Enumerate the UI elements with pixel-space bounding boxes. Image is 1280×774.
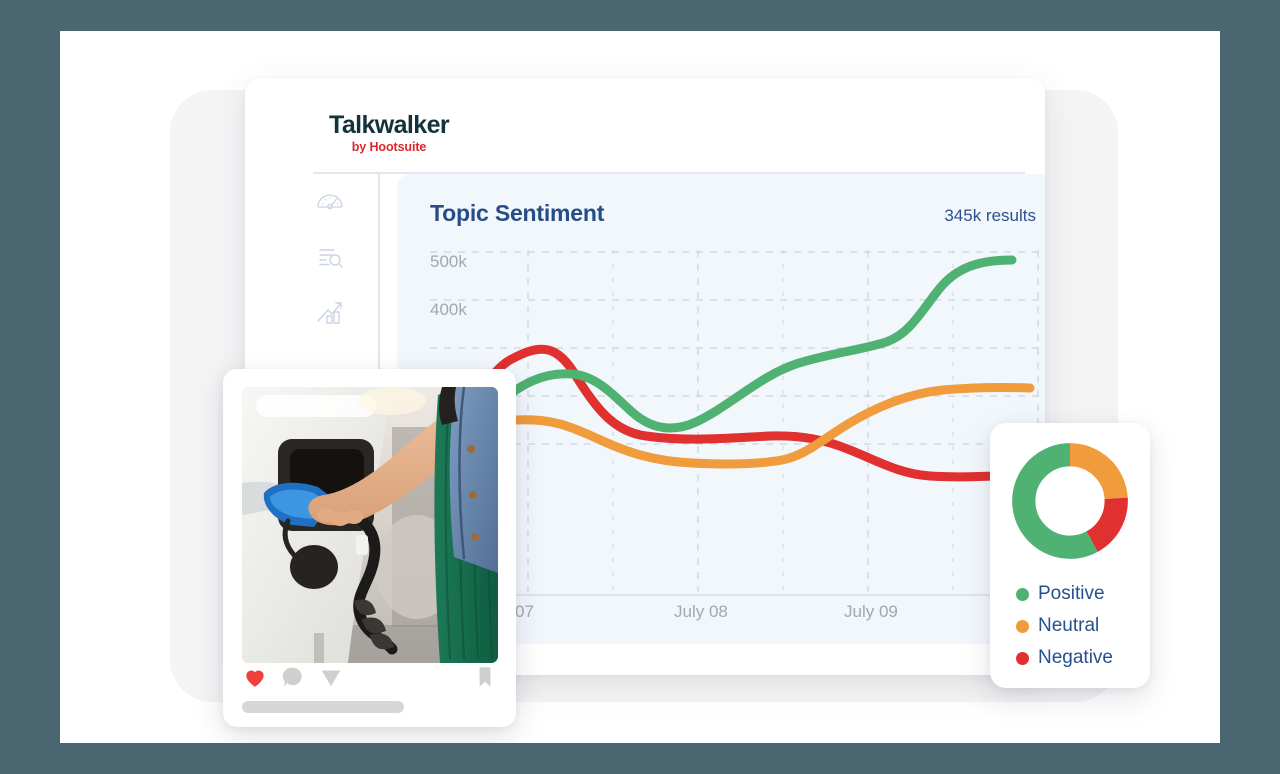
grid-vertical-minor	[613, 250, 953, 592]
legend-dot-neutral	[1016, 620, 1029, 633]
post-actions	[242, 664, 498, 698]
post-photo	[242, 387, 498, 663]
series-line-positive	[430, 260, 1012, 486]
like-heart-icon[interactable]	[242, 664, 268, 690]
x-tick-july-09: July 09	[844, 602, 898, 622]
x-tick-july-08: July 08	[674, 602, 728, 622]
legend-item-neutral[interactable]: Neutral	[1016, 610, 1146, 642]
sidebar-item-search[interactable]	[313, 240, 347, 274]
page-title: Topic Sentiment	[430, 200, 604, 227]
series-line-negative	[430, 349, 1026, 477]
bookmark-icon[interactable]	[472, 664, 498, 690]
legend-item-negative[interactable]: Negative	[1016, 642, 1146, 674]
legend-dot-positive	[1016, 588, 1029, 601]
comment-bubble-icon[interactable]	[280, 664, 306, 690]
donut-slice-positive	[1024, 455, 1116, 547]
legend-dot-negative	[1016, 652, 1029, 665]
legend-list: Positive Neutral Negative	[1016, 578, 1146, 674]
legend-label-positive: Positive	[1038, 583, 1105, 605]
dashboard-gauge-icon	[314, 185, 346, 217]
brand-name: Talkwalker	[329, 113, 449, 138]
brand-header: Talkwalker by Hootsuite	[245, 78, 1045, 173]
screenshot-stage: Talkwalker by Hootsuite	[0, 0, 1280, 774]
sentiment-donut-chart	[1009, 440, 1131, 562]
sidebar-item-analytics[interactable]	[313, 296, 347, 330]
x-tick-july-07: 07	[515, 602, 534, 622]
sentiment-legend-card: Positive Neutral Negative	[990, 423, 1150, 688]
results-count: 345k results	[944, 206, 1036, 226]
search-analysis-icon	[314, 241, 346, 273]
share-send-icon[interactable]	[318, 664, 344, 690]
line-chart-plot	[430, 250, 1045, 594]
brand-subtitle: by Hootsuite	[329, 141, 449, 154]
caption-placeholder-bar	[242, 701, 404, 713]
legend-label-neutral: Neutral	[1038, 615, 1099, 637]
talkwalker-logo[interactable]: Talkwalker by Hootsuite	[329, 113, 449, 154]
white-canvas: Talkwalker by Hootsuite	[60, 31, 1220, 743]
legend-label-negative: Negative	[1038, 647, 1113, 669]
sidebar-item-dashboard[interactable]	[313, 184, 347, 218]
social-post-card	[223, 369, 516, 727]
analytics-trend-icon	[314, 297, 346, 329]
legend-item-positive[interactable]: Positive	[1016, 578, 1146, 610]
